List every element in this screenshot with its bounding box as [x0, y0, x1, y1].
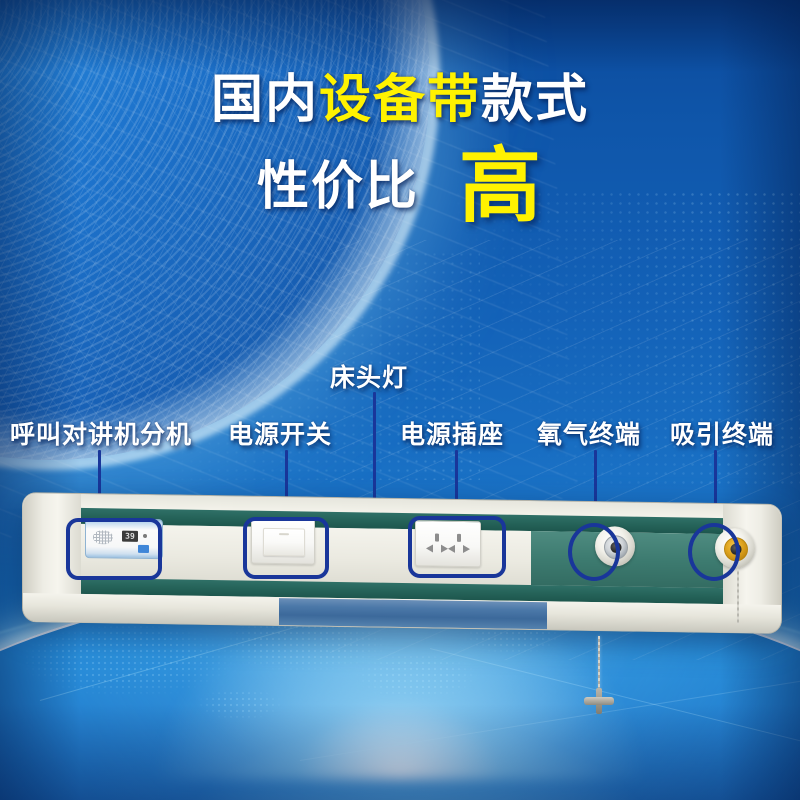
headline-block: 国内设备带款式 性价比高 — [0, 74, 800, 228]
call-pull-cord[interactable] — [598, 636, 600, 694]
headline-line-2: 性价比高 — [0, 146, 800, 228]
suction-terminal-cord — [737, 568, 739, 624]
highlight-circle-oxygen — [568, 523, 620, 581]
callout-label-power-switch: 电源开关 — [228, 415, 332, 451]
headline-line-1: 国内设备带款式 — [0, 74, 800, 126]
callout-label-nurse-call: 呼叫对讲机分机 — [10, 415, 192, 451]
callout-label-power-socket: 电源插座 — [400, 415, 504, 451]
highlight-box-power-switch — [243, 517, 329, 579]
pull-cord-weight[interactable] — [584, 688, 614, 714]
highlight-circle-suction — [688, 523, 740, 581]
headline-emphasis-high: 高 — [459, 141, 543, 232]
headline-part-equipment-belt: 设备带 — [319, 71, 481, 129]
product-banner: 国内设备带款式 性价比高 呼叫对讲机分机 电源开关 床头灯 电源插座 氧气终端 … — [0, 0, 800, 800]
headline-value-ratio: 性价比 — [257, 158, 419, 216]
callout-label-suction: 吸引终端 — [670, 415, 774, 451]
panel-handle-strip — [279, 598, 547, 629]
highlight-box-nurse-call — [66, 518, 162, 580]
callout-label-bed-lamp: 床头灯 — [330, 358, 408, 394]
headline-part-style: 款式 — [481, 71, 589, 129]
callout-label-oxygen: 氧气终端 — [537, 415, 641, 451]
highlight-box-power-socket — [408, 516, 506, 578]
pull-cord-weight-horizontal — [584, 697, 614, 705]
headline-part-domestic: 国内 — [211, 71, 319, 129]
